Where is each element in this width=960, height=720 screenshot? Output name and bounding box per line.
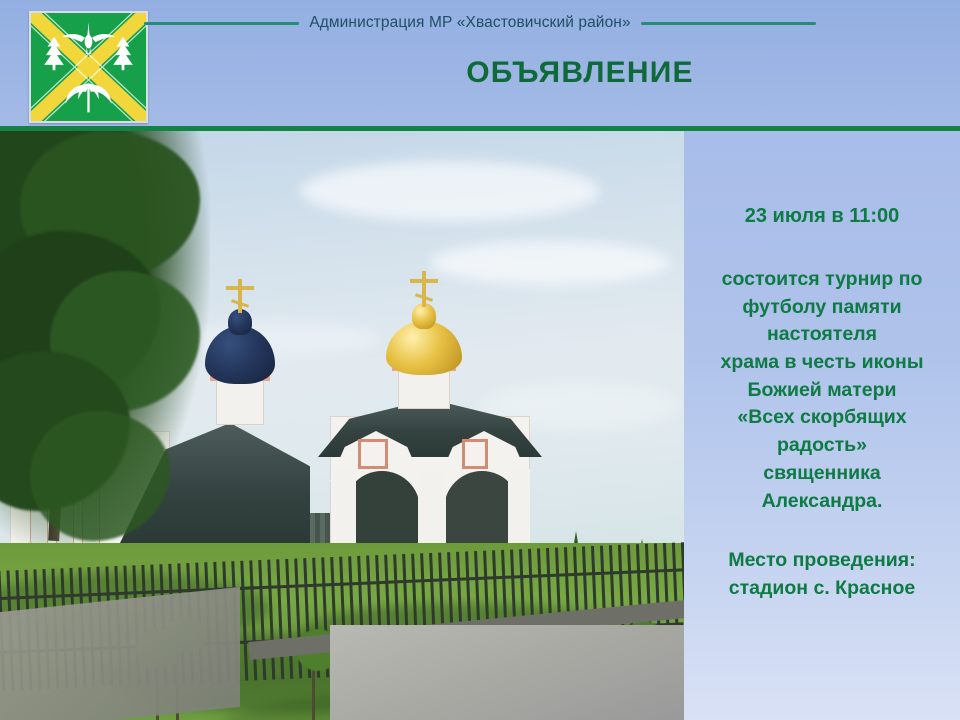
description-line: Александра. [688, 488, 956, 516]
event-datetime: 23 июля в 11:00 [745, 205, 900, 228]
gold-drum [398, 369, 450, 409]
description-line: футболу памяти [688, 294, 956, 322]
cross-arm [226, 286, 254, 290]
description-line: состоится турнир по [688, 266, 956, 294]
tree-foliage [30, 411, 170, 541]
header-rule-row: Администрация МР «Хвастовичский район» [0, 13, 960, 33]
fence-picket [258, 560, 266, 680]
venue-line: стадион с. Красное [688, 575, 956, 603]
fence-picket [249, 560, 257, 680]
asphalt-road [330, 625, 684, 720]
fence-picket [276, 559, 284, 679]
rule-left [144, 22, 299, 25]
church-photo [0, 131, 684, 720]
announcement-poster: Администрация МР «Хвастовичский район» О… [0, 0, 960, 720]
description-line: храма в честь иконы [688, 349, 956, 377]
gold-onion-dome [386, 321, 462, 375]
foreground-tree [0, 131, 210, 551]
description-line: «Всех скорбящих [688, 404, 956, 432]
poster-header: Администрация МР «Хвастовичский район» О… [0, 0, 960, 127]
announcement-text-panel: 23 июля в 11:00 состоится турнир по футб… [684, 131, 960, 720]
event-venue: Место проведения: стадион с. Красное [688, 547, 956, 602]
tower-panel-left [358, 439, 388, 469]
rule-right [641, 22, 816, 25]
cross-arm [410, 279, 438, 283]
fence-picket [285, 559, 293, 679]
description-line: Божией матери [688, 377, 956, 405]
tower-panel-right [462, 439, 488, 469]
description-line: настоятеля [688, 321, 956, 349]
fence-picket [267, 560, 275, 680]
organization-name: Администрация МР «Хвастовичский район» [309, 14, 630, 32]
description-line: священника [688, 460, 956, 488]
cross-vertical [422, 271, 426, 307]
left-drum [216, 379, 264, 425]
fence-picket [240, 561, 248, 681]
cross-vertical [238, 279, 242, 313]
page-title: ОБЪЯВЛЕНИЕ [300, 56, 860, 90]
event-description: состоится турнир по футболу памяти насто… [688, 266, 956, 515]
venue-line: Место проведения: [688, 547, 956, 575]
description-line: радость» [688, 432, 956, 460]
